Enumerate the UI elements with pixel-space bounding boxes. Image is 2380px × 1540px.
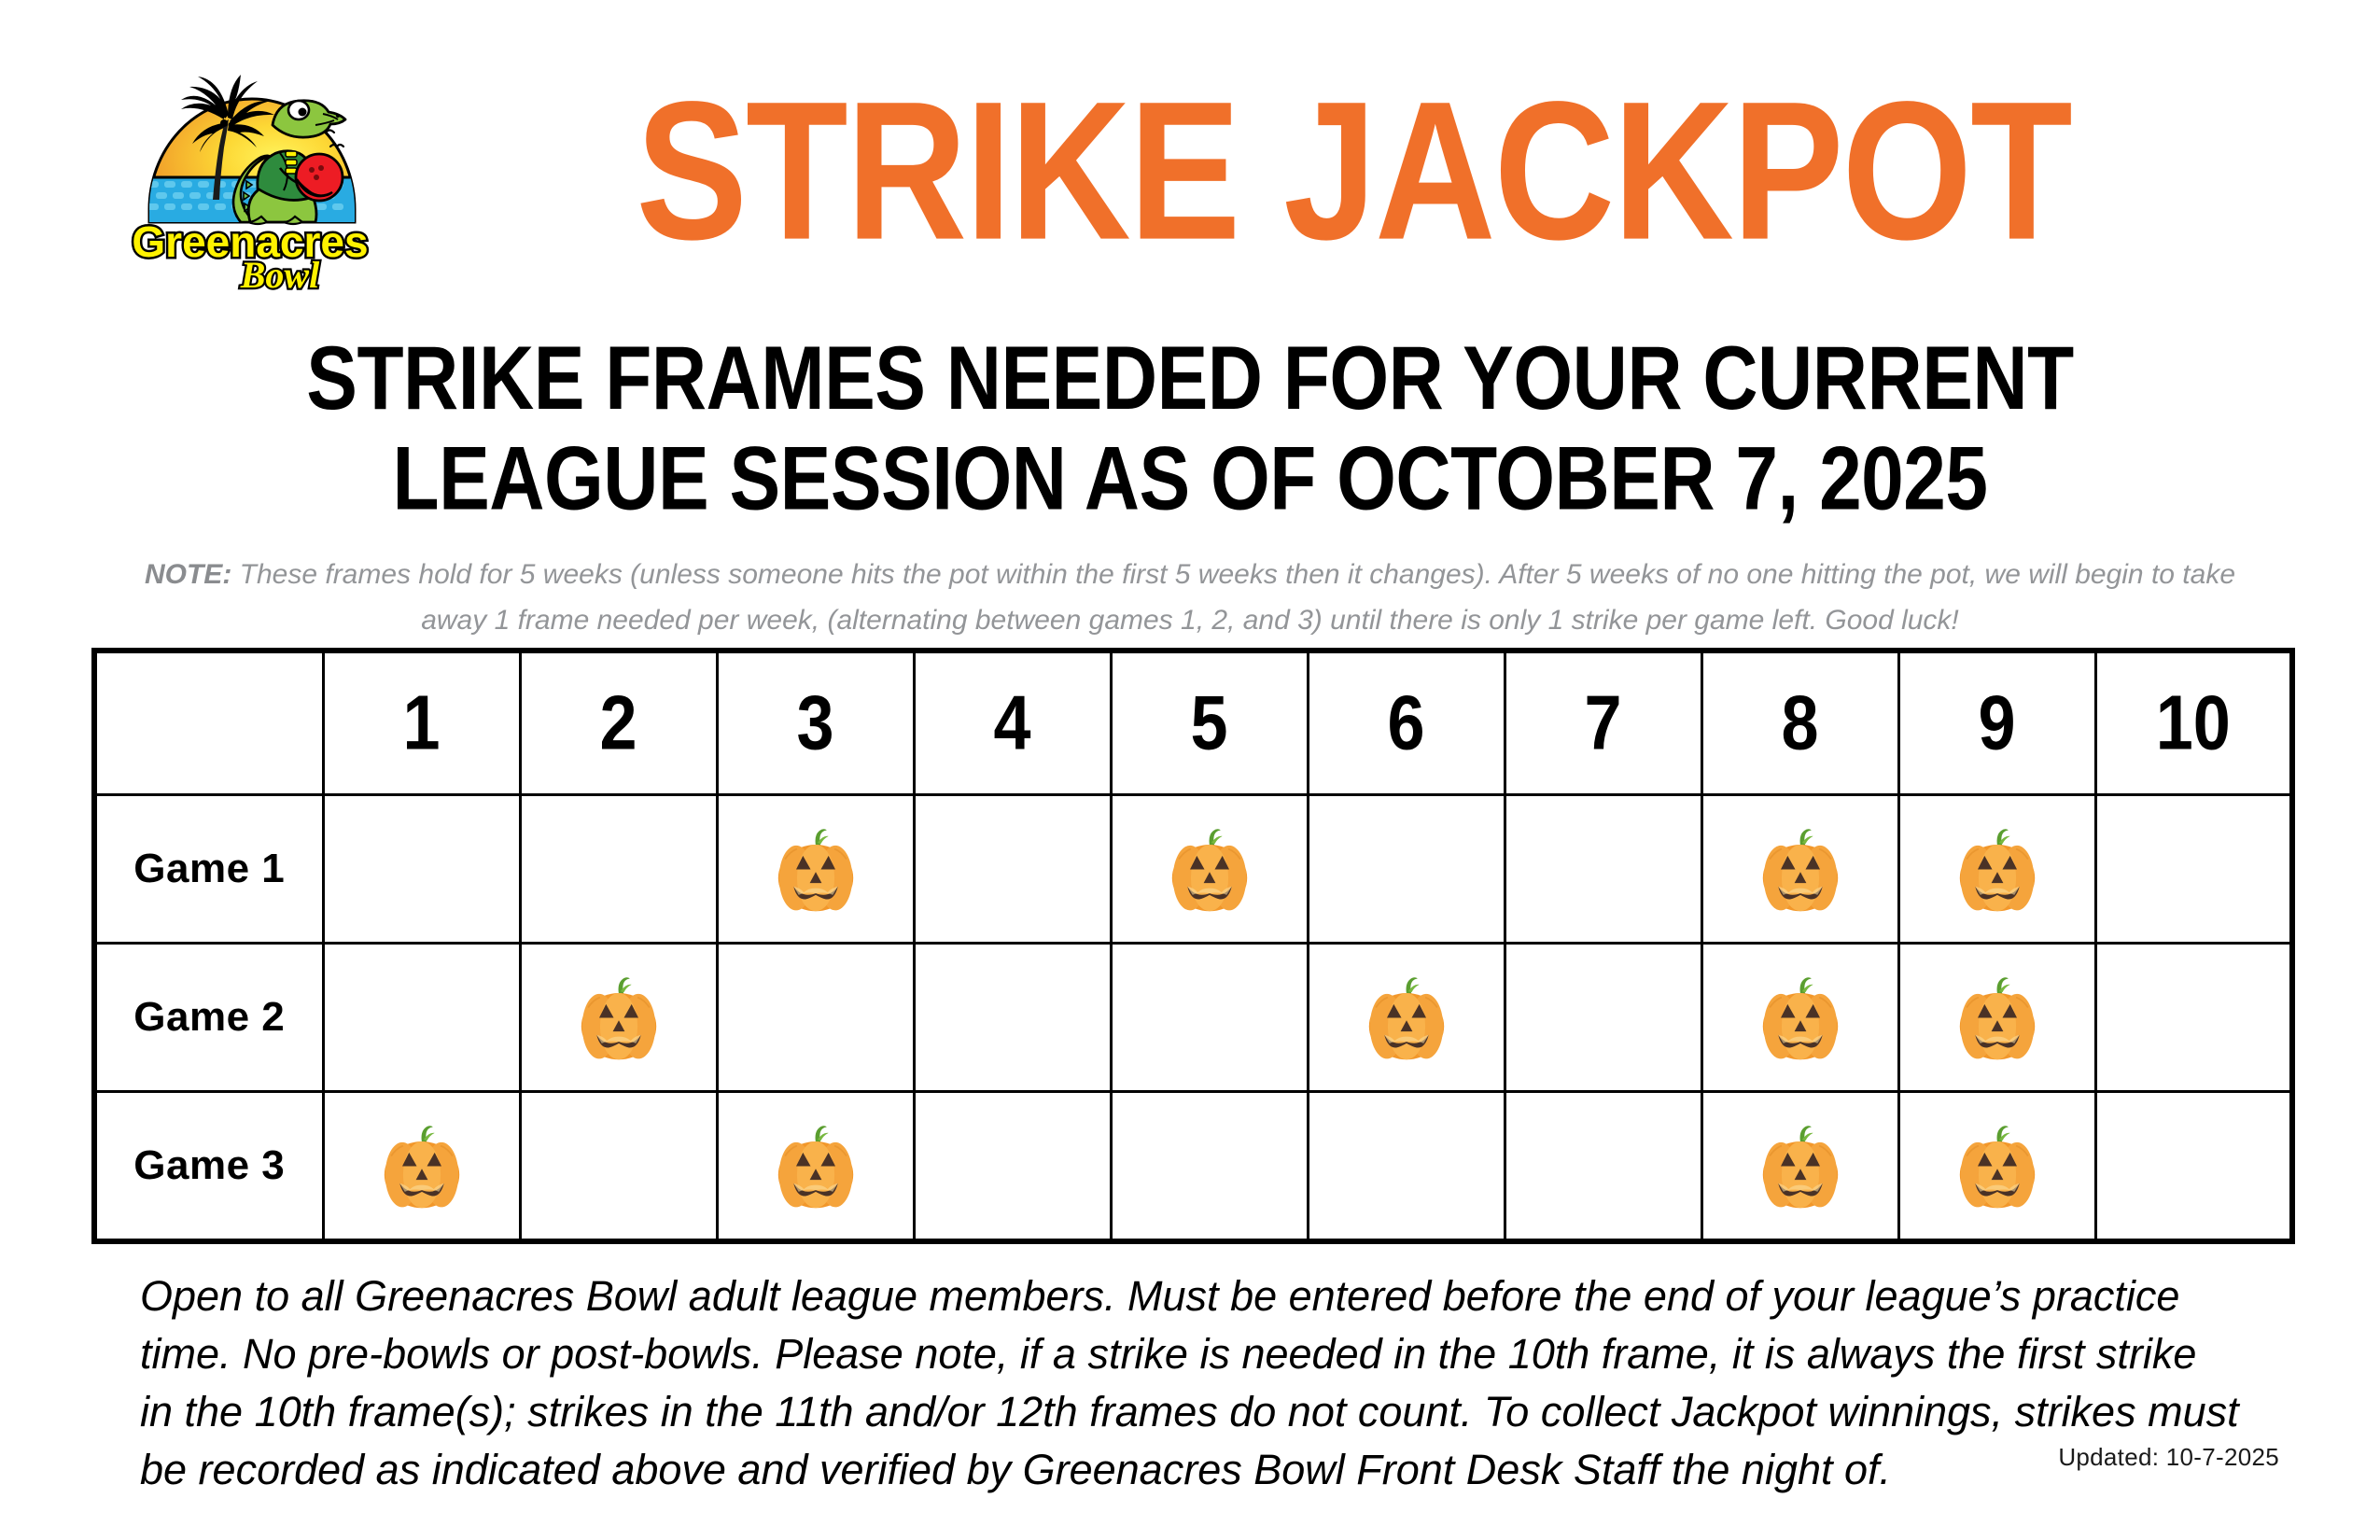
subtitle-line-1: STRIKE FRAMES NEEDED FOR YOUR CURRENT (0, 329, 2380, 428)
jack-o-lantern-icon (773, 1122, 859, 1211)
frame-header-5: 5 (1111, 651, 1308, 795)
frame-header-4: 4 (914, 651, 1111, 795)
frame-header-label: 1 (402, 685, 440, 763)
frame-cell-g1-f2[interactable] (520, 795, 717, 944)
frame-cell-g1-f3[interactable] (717, 795, 914, 944)
jack-o-lantern-icon (576, 973, 662, 1062)
table-header-row: 1 2 3 4 5 6 7 8 9 10 (94, 651, 2292, 795)
jack-o-lantern-icon (1364, 973, 1449, 1062)
frame-cell-g3-f7[interactable] (1505, 1092, 1701, 1242)
frame-cell-g2-f2[interactable] (520, 944, 717, 1092)
jack-o-lantern-icon (773, 825, 859, 914)
jack-o-lantern-icon (379, 1122, 465, 1211)
frame-header-6: 6 (1308, 651, 1505, 795)
jack-o-lantern-icon (1757, 1122, 1843, 1211)
frame-cell-g1-f7[interactable] (1505, 795, 1701, 944)
subtitle-line-2: LEAGUE SESSION AS OF OCTOBER 7, 2025 (0, 428, 2380, 528)
frame-cell-g1-f9[interactable] (1898, 795, 2095, 944)
table-header: 1 2 3 4 5 6 7 8 9 10 (94, 651, 2292, 795)
frame-header-label: 4 (993, 685, 1030, 763)
frame-cell-g3-f4[interactable] (914, 1092, 1111, 1242)
frame-header-9: 9 (1898, 651, 2095, 795)
frame-header-8: 8 (1701, 651, 1898, 795)
game-row-label: Game 2 (94, 944, 323, 1092)
game-row-label: Game 3 (94, 1092, 323, 1242)
jack-o-lantern-icon (1954, 825, 2040, 914)
table-row: Game 2 (94, 944, 2292, 1092)
frame-cell-g1-f1[interactable] (323, 795, 520, 944)
frame-header-label: 2 (599, 685, 637, 763)
frame-header-label: 3 (796, 685, 833, 763)
logo-wordmark-bowl: Bowl (240, 254, 320, 296)
jack-o-lantern-icon (1167, 825, 1253, 914)
frame-header-1: 1 (323, 651, 520, 795)
table-corner-cell (94, 651, 323, 795)
updated-stamp: Updated: 10-7-2025 (2058, 1443, 2279, 1472)
frame-cell-g2-f4[interactable] (914, 944, 1111, 1092)
frame-cell-g3-f6[interactable] (1308, 1092, 1505, 1242)
frame-cell-g1-f8[interactable] (1701, 795, 1898, 944)
frame-header-label: 6 (1387, 685, 1424, 763)
strike-frames-table: 1 2 3 4 5 6 7 8 9 10 Game 1Game 2Game 3 (91, 648, 2295, 1244)
jack-o-lantern-icon (1954, 1122, 2040, 1211)
jack-o-lantern-icon (1757, 825, 1843, 914)
frame-header-label: 8 (1781, 685, 1818, 763)
frame-cell-g3-f9[interactable] (1898, 1092, 2095, 1242)
game-row-label: Game 1 (94, 795, 323, 944)
frame-cell-g2-f10[interactable] (2095, 944, 2292, 1092)
table-row: Game 1 (94, 795, 2292, 944)
frame-cell-g3-f2[interactable] (520, 1092, 717, 1242)
page-subtitle: STRIKE FRAMES NEEDED FOR YOUR CURRENT LE… (0, 329, 2380, 529)
frame-header-label: 7 (1584, 685, 1621, 763)
frame-cell-g3-f1[interactable] (323, 1092, 520, 1242)
frame-header-10: 10 (2095, 651, 2292, 795)
table-row: Game 3 (94, 1092, 2292, 1242)
frame-header-7: 7 (1505, 651, 1701, 795)
frame-cell-g2-f8[interactable] (1701, 944, 1898, 1092)
frame-cell-g1-f6[interactable] (1308, 795, 1505, 944)
frame-cell-g3-f8[interactable] (1701, 1092, 1898, 1242)
frame-cell-g3-f10[interactable] (2095, 1092, 2292, 1242)
frame-cell-g2-f7[interactable] (1505, 944, 1701, 1092)
rules-footer: Open to all Greenacres Bowl adult league… (140, 1267, 2240, 1499)
strike-frames-table-wrap: 1 2 3 4 5 6 7 8 9 10 Game 1Game 2Game 3 (91, 648, 2289, 1226)
frame-header-label: 5 (1190, 685, 1227, 763)
greenacres-bowl-logo: Greenacres Bowl (131, 39, 378, 296)
frame-header-label: 10 (2156, 685, 2231, 763)
frame-cell-g3-f5[interactable] (1111, 1092, 1308, 1242)
frame-cell-g1-f4[interactable] (914, 795, 1111, 944)
note-label: NOTE: (145, 559, 231, 590)
frame-cell-g2-f1[interactable] (323, 944, 520, 1092)
frame-cell-g1-f10[interactable] (2095, 795, 2292, 944)
frame-cell-g2-f6[interactable] (1308, 944, 1505, 1092)
frame-header-2: 2 (520, 651, 717, 795)
jack-o-lantern-icon (1757, 973, 1843, 1062)
frame-cell-g2-f5[interactable] (1111, 944, 1308, 1092)
frame-cell-g2-f3[interactable] (717, 944, 914, 1092)
page-header: Greenacres Bowl STRIKE JACKPOT (0, 0, 2380, 308)
frame-header-3: 3 (717, 651, 914, 795)
frame-cell-g3-f3[interactable] (717, 1092, 914, 1242)
note-text: These frames hold for 5 weeks (unless so… (231, 559, 2235, 636)
jack-o-lantern-icon (1954, 973, 2040, 1062)
table-body: Game 1Game 2Game 3 (94, 795, 2292, 1242)
frame-cell-g2-f9[interactable] (1898, 944, 2095, 1092)
note-block: NOTE: These frames hold for 5 weeks (unl… (140, 553, 2240, 643)
frame-header-label: 9 (1978, 685, 2015, 763)
frame-cell-g1-f5[interactable] (1111, 795, 1308, 944)
page-title: STRIKE JACKPOT (420, 73, 2286, 270)
